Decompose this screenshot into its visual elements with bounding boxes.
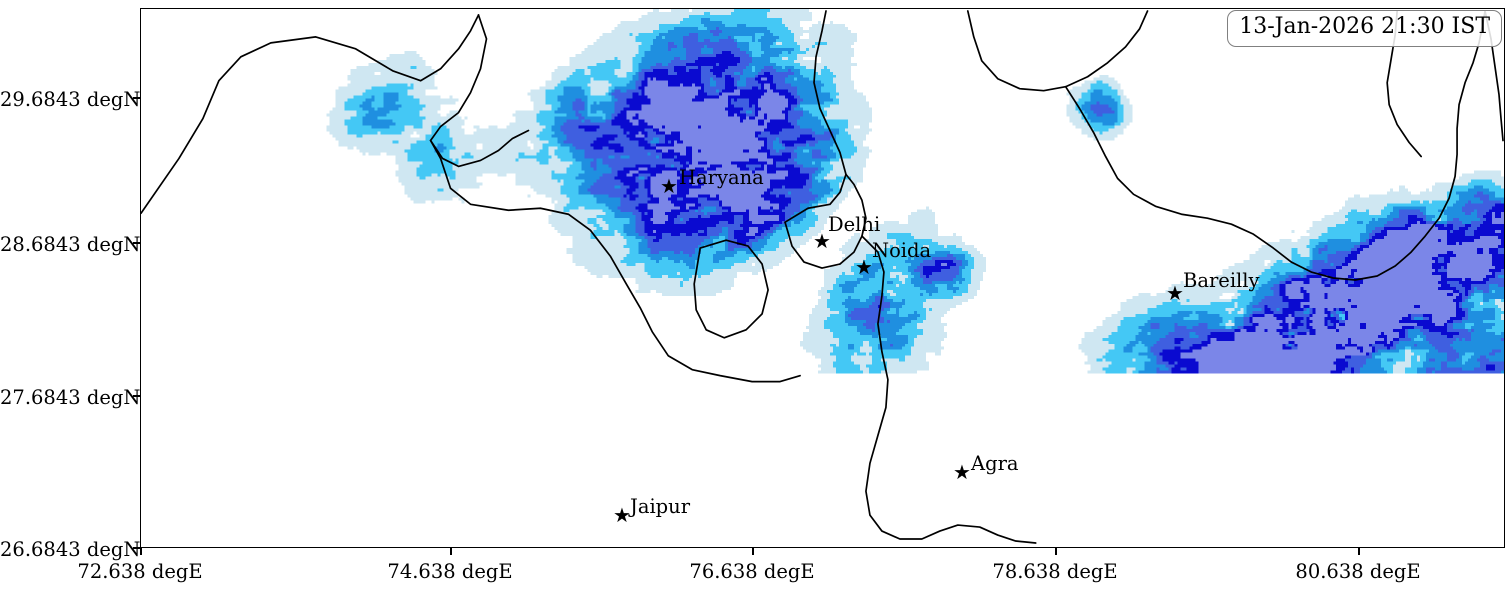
city-label-haryana: Haryana — [679, 168, 764, 188]
timestamp-text: 13-Jan-2026 21:30 IST — [1239, 14, 1490, 39]
x-tick-mark-4 — [1358, 548, 1360, 555]
plot-frame — [140, 8, 1505, 548]
y-axis-label-1: 28.6843 degN — [0, 233, 130, 256]
y-axis-label-0: 29.6843 degN — [0, 88, 130, 111]
x-axis-label-0: 72.638 degE — [77, 560, 202, 583]
timestamp-badge: 13-Jan-2026 21:30 IST — [1227, 10, 1502, 47]
x-axis-label-1: 74.638 degE — [387, 560, 512, 583]
x-axis-label-4: 80.638 degE — [1295, 560, 1420, 583]
city-label-jaipur: Jaipur — [630, 497, 690, 517]
radar-map-figure: 29.6843 degN 28.6843 degN 27.6843 degN 2… — [0, 0, 1512, 591]
x-axis-label-2: 76.638 degE — [689, 560, 814, 583]
city-label-noida: Noida — [872, 241, 931, 261]
y-axis-label-3: 26.6843 degN — [0, 538, 130, 561]
y-axis-label-2: 27.6843 degN — [0, 386, 130, 409]
city-star-haryana: ★ — [660, 176, 678, 196]
state-boundary-overlay — [141, 9, 1504, 547]
city-star-noida: ★ — [855, 257, 873, 277]
city-star-agra: ★ — [953, 462, 971, 482]
x-tick-mark-3 — [1055, 548, 1057, 555]
x-axis-label-3: 78.638 degE — [992, 560, 1117, 583]
x-tick-mark-0 — [140, 548, 142, 555]
x-tick-mark-2 — [752, 548, 754, 555]
city-star-bareilly: ★ — [1166, 283, 1184, 303]
x-tick-mark-1 — [450, 548, 452, 555]
city-label-bareilly: Bareilly — [1183, 271, 1260, 291]
city-star-jaipur: ★ — [613, 505, 631, 525]
boundary-paths — [141, 11, 1503, 543]
city-label-delhi: Delhi — [828, 215, 880, 235]
city-label-agra: Agra — [971, 454, 1019, 474]
